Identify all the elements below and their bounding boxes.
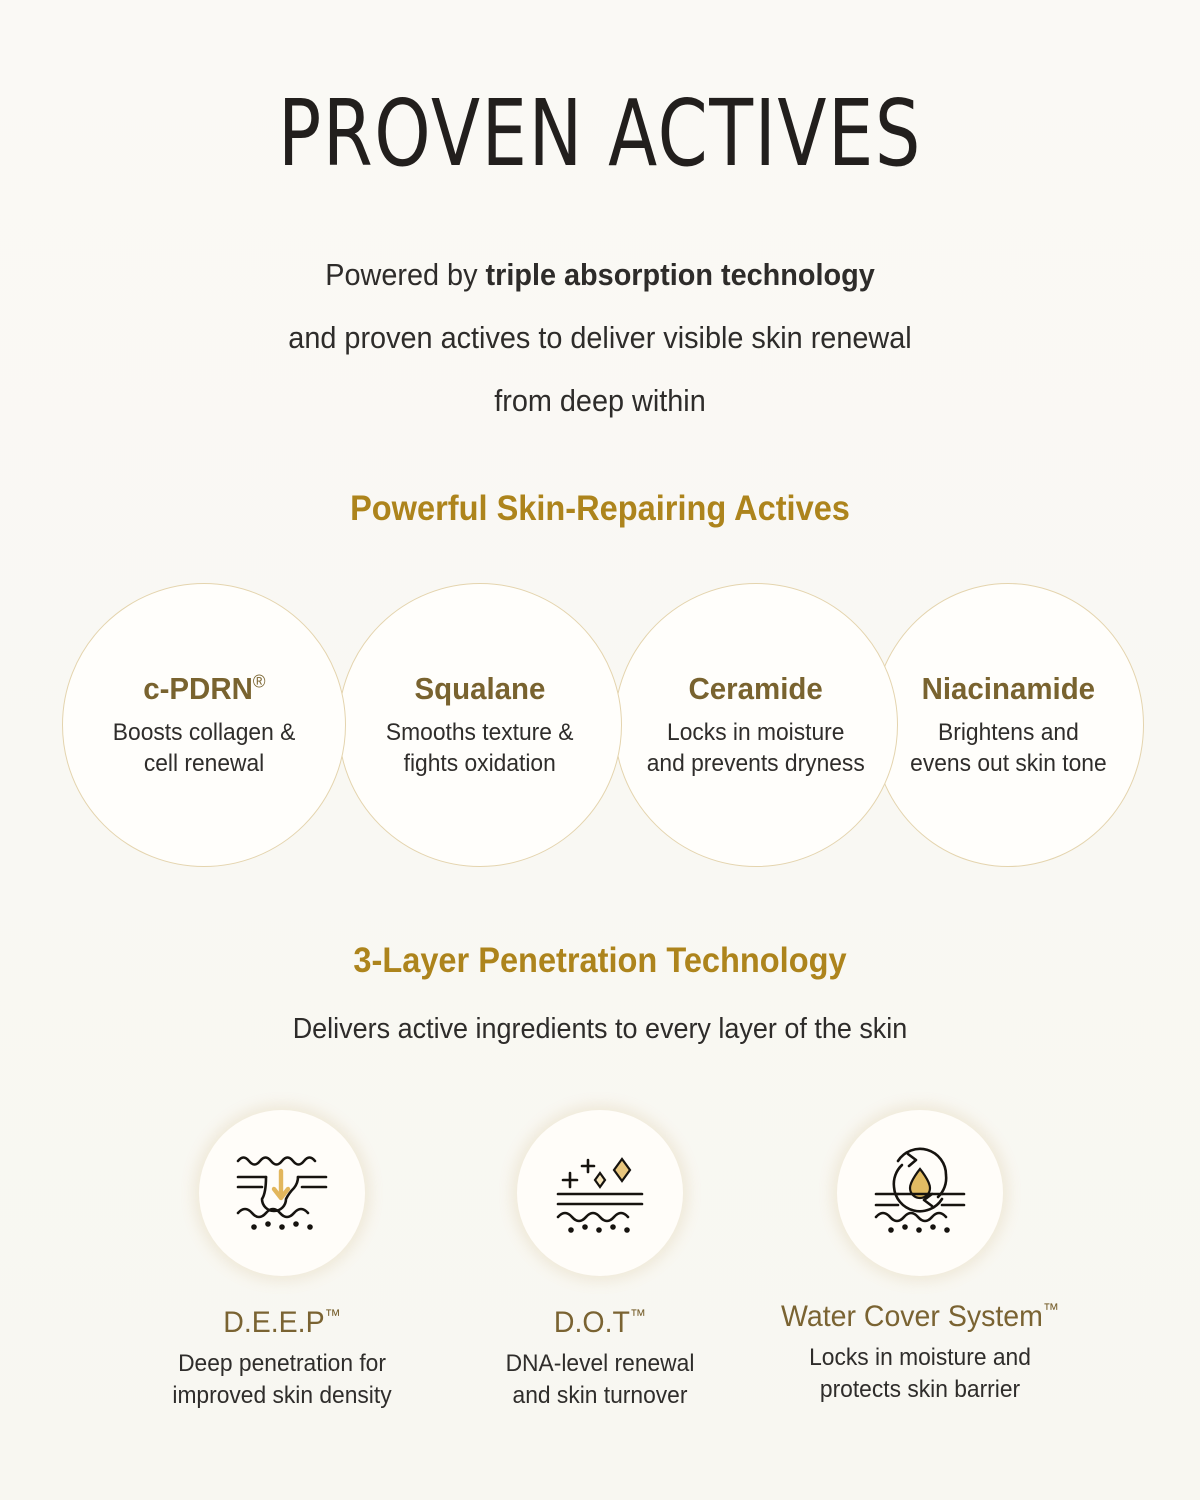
hero-subtitle-line-1: Powered by triple absorption technology xyxy=(42,243,1158,306)
hero-subtitle-line-3: from deep within xyxy=(42,369,1158,432)
tech-name: D.O.T™ xyxy=(448,1306,752,1340)
active-name: Niacinamide xyxy=(921,671,1094,707)
tech-name-text: D.E.E.P xyxy=(223,1306,324,1339)
skin-dots-icon xyxy=(888,1224,950,1233)
sparkle-filled-icon xyxy=(614,1159,630,1181)
technology-section-subheading: Delivers active ingredients to every lay… xyxy=(42,1013,1158,1046)
water-cycle-droplet-icon xyxy=(868,1141,972,1245)
tech-description: Deep penetration for improved skin densi… xyxy=(130,1348,434,1412)
skin-sparkle-renewal-icon xyxy=(548,1141,652,1245)
skin-dots-icon xyxy=(568,1224,630,1233)
tech-name: Water Cover System™ xyxy=(768,1300,1072,1334)
active-circle-cpdrn: c-PDRN® Boosts collagen & cell renewal xyxy=(62,583,346,867)
active-circle-ceramide: Ceramide Locks in moisture and prevents … xyxy=(614,583,898,867)
tech-item-dot: D.O.T™ DNA-level renewal and skin turnov… xyxy=(440,1110,760,1412)
down-arrow-icon xyxy=(274,1171,288,1198)
active-name: Ceramide xyxy=(689,671,823,707)
active-name-text: c-PDRN xyxy=(143,671,253,706)
hero-subtitle-strong: triple absorption technology xyxy=(486,257,875,292)
hero-subtitle: Powered by triple absorption technology … xyxy=(42,243,1158,432)
technology-row: D.E.E.P™ Deep penetration for improved s… xyxy=(0,1110,1200,1470)
hero-subtitle-prefix: Powered by xyxy=(325,257,485,292)
skin-pore-penetration-icon xyxy=(230,1141,334,1245)
hero-subtitle-line-2: and proven actives to deliver visible sk… xyxy=(42,306,1158,369)
technology-section-heading: 3-Layer Penetration Technology xyxy=(42,941,1158,981)
tech-description: DNA-level renewal and skin turnover xyxy=(448,1348,752,1412)
tech-description: Locks in moisture and protects skin barr… xyxy=(768,1342,1072,1406)
active-circle-squalane: Squalane Smooths texture & fights oxidat… xyxy=(338,583,622,867)
active-name-text: Ceramide xyxy=(689,671,823,706)
registered-mark-icon: ® xyxy=(253,672,266,692)
active-circle-niacinamide: Niacinamide Brightens and evens out skin… xyxy=(872,583,1144,867)
actives-circle-row: c-PDRN® Boosts collagen & cell renewal S… xyxy=(0,583,1200,873)
active-name-text: Squalane xyxy=(415,671,546,706)
skin-dots-icon xyxy=(251,1221,313,1230)
active-description: Boosts collagen & cell renewal xyxy=(113,717,296,779)
tech-icon-container-dot xyxy=(517,1110,683,1276)
active-description: Locks in moisture and prevents dryness xyxy=(647,717,865,779)
tech-icon-container-water xyxy=(837,1110,1003,1276)
tech-item-water-cover-system: Water Cover System™ Locks in moisture an… xyxy=(760,1110,1080,1406)
trademark-mark-icon: ™ xyxy=(630,1306,646,1325)
sparkle-outline-icon xyxy=(595,1173,605,1187)
sparkle-small-icon xyxy=(563,1160,594,1187)
infographic-page: PROVEN ACTIVES Powered by triple absorpt… xyxy=(0,0,1200,1500)
tech-name-text: D.O.T xyxy=(554,1306,630,1339)
tech-icon-container-deep xyxy=(199,1110,365,1276)
page-title: PROVEN ACTIVES xyxy=(132,88,1068,180)
trademark-mark-icon: ™ xyxy=(325,1306,341,1325)
active-name-text: Niacinamide xyxy=(921,671,1094,706)
tech-name: D.E.E.P™ xyxy=(130,1306,434,1340)
tech-name-text: Water Cover System xyxy=(781,1300,1043,1333)
active-description: Smooths texture & fights oxidation xyxy=(386,717,574,779)
trademark-mark-icon: ™ xyxy=(1043,1300,1059,1319)
active-name: Squalane xyxy=(415,671,546,707)
active-name: c-PDRN® xyxy=(143,671,265,707)
tech-item-deep: D.E.E.P™ Deep penetration for improved s… xyxy=(122,1110,442,1412)
actives-section-heading: Powerful Skin-Repairing Actives xyxy=(42,489,1158,529)
active-description: Brightens and evens out skin tone xyxy=(910,717,1106,779)
